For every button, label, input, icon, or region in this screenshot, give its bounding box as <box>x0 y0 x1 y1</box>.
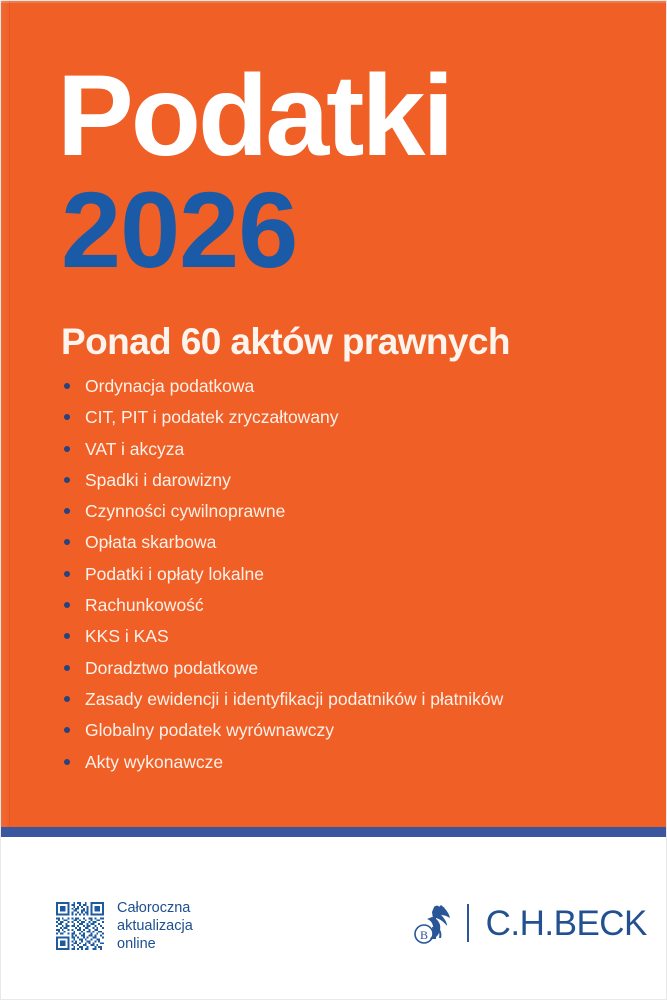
list-item: Akty wykonawcze <box>61 751 621 782</box>
bullet-dot-icon <box>64 446 70 452</box>
bullet-dot-icon <box>64 759 70 765</box>
list-item-label: KKS i KAS <box>85 626 169 646</box>
list-item: Spadki i darowizny <box>61 469 621 500</box>
bullet-dot-icon <box>64 665 70 671</box>
list-item-label: Podatki i opłaty lokalne <box>85 564 264 584</box>
cover-footer: Całoroczna aktualizacja online <box>1 837 667 1000</box>
blue-divider-bar <box>1 827 667 837</box>
caption-line-2: aktualizacja <box>117 917 193 935</box>
list-item-label: Akty wykonawcze <box>85 752 223 772</box>
bullet-dot-icon <box>64 477 70 483</box>
list-item: Czynności cywilnoprawne <box>61 500 621 531</box>
contents-list: Ordynacja podatkowa CIT, PIT i podatek z… <box>61 375 621 782</box>
bullet-dot-icon <box>64 727 70 733</box>
spine-fold-line <box>9 1 10 827</box>
book-cover: Podatki 2026 Ponad 60 aktów prawnych Ord… <box>0 0 667 1000</box>
bullet-dot-icon <box>64 414 70 420</box>
caption-line-3: online <box>117 935 193 953</box>
qr-code-icon[interactable] <box>56 902 104 950</box>
list-item-label: Rachunkowość <box>85 595 204 615</box>
list-item: CIT, PIT i podatek zryczałtowany <box>61 406 621 437</box>
bullet-dot-icon <box>64 383 70 389</box>
bullet-dot-icon <box>64 602 70 608</box>
list-item-label: Zasady ewidencji i identyfikacji podatni… <box>85 689 503 709</box>
bullet-dot-icon <box>64 633 70 639</box>
list-item: Rachunkowość <box>61 594 621 625</box>
list-item: Ordynacja podatkowa <box>61 375 621 406</box>
svg-text:B: B <box>420 928 428 942</box>
bullet-dot-icon <box>64 696 70 702</box>
bullet-dot-icon <box>64 539 70 545</box>
caption-line-1: Całoroczna <box>117 899 193 917</box>
list-item-label: Czynności cywilnoprawne <box>85 501 285 521</box>
list-item-label: Globalny podatek wyrównawczy <box>85 720 334 740</box>
logo-separator <box>467 904 469 942</box>
publisher-name: C.H.BECK <box>486 906 647 941</box>
list-item-label: Opłata skarbowa <box>85 532 216 552</box>
list-item-label: Spadki i darowizny <box>85 470 231 490</box>
griffin-icon: B <box>411 899 453 947</box>
list-item: VAT i akcyza <box>61 438 621 469</box>
cover-year: 2026 <box>61 176 297 284</box>
online-update-block[interactable]: Całoroczna aktualizacja online <box>56 899 193 953</box>
list-item-label: CIT, PIT i podatek zryczałtowany <box>85 407 339 427</box>
cover-subtitle: Ponad 60 aktów prawnych <box>61 323 510 360</box>
cover-title: Podatki <box>57 59 451 174</box>
bullet-dot-icon <box>64 571 70 577</box>
list-item: Podatki i opłaty lokalne <box>61 563 621 594</box>
list-item: Globalny podatek wyrównawczy <box>61 719 621 750</box>
list-item-label: VAT i akcyza <box>85 439 184 459</box>
top-edge-highlight <box>1 1 667 3</box>
bullet-dot-icon <box>64 508 70 514</box>
list-item: Doradztwo podatkowe <box>61 657 621 688</box>
publisher-logo: B C.H.BECK <box>411 897 647 949</box>
list-item: Opłata skarbowa <box>61 531 621 562</box>
list-item: Zasady ewidencji i identyfikacji podatni… <box>61 688 621 719</box>
list-item-label: Ordynacja podatkowa <box>85 376 254 396</box>
list-item-label: Doradztwo podatkowe <box>85 658 258 678</box>
online-update-caption: Całoroczna aktualizacja online <box>117 899 193 953</box>
list-item: KKS i KAS <box>61 625 621 656</box>
